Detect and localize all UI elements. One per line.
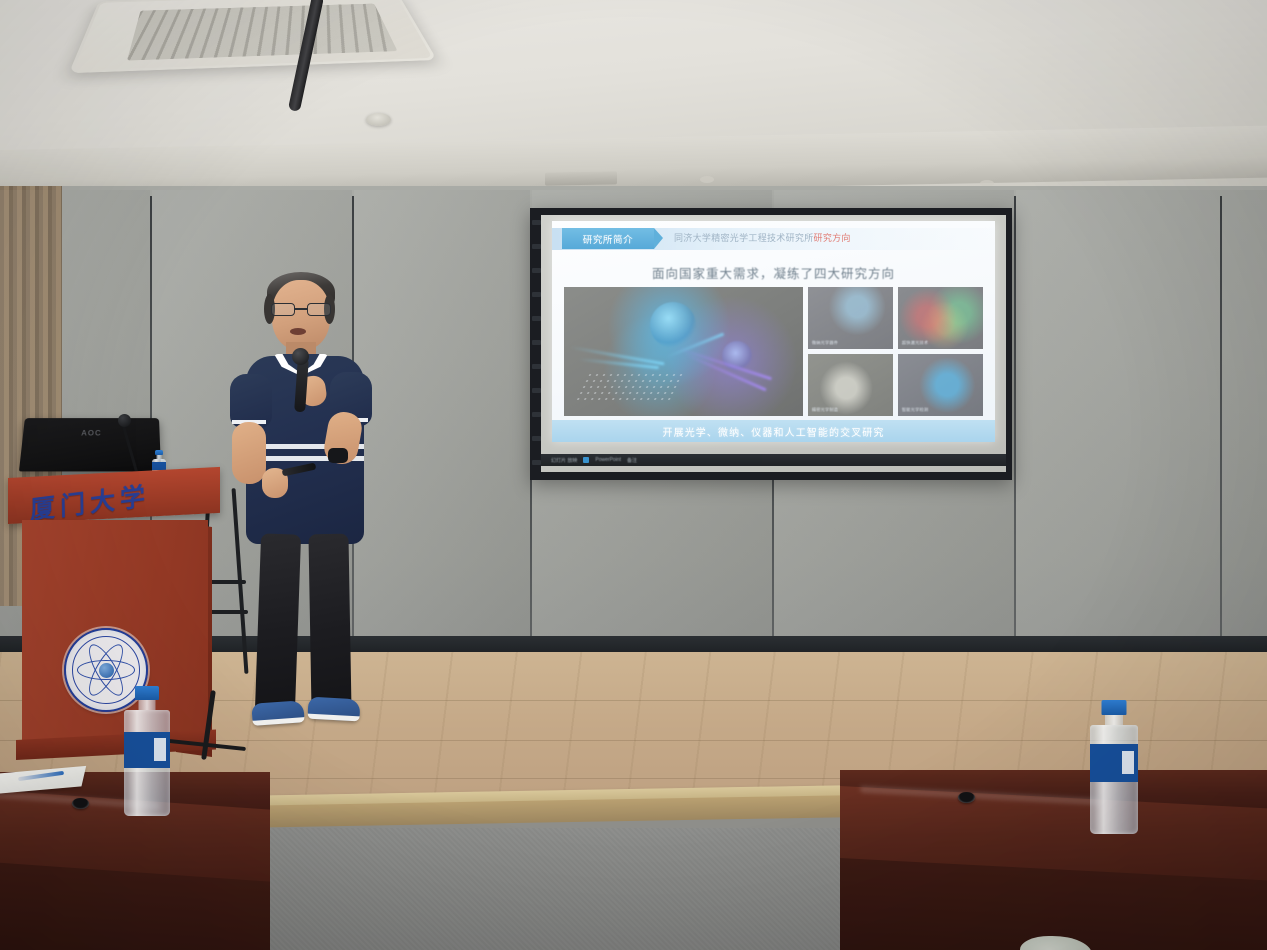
dot-array-graphic: [574, 372, 688, 400]
air-conditioner-icon: [69, 0, 437, 73]
status-bar-center-label: PowerPoint: [595, 457, 621, 463]
slide-subtitle-accent: 研究方向: [814, 233, 851, 243]
figure-white-sample: 精密光学制造: [808, 354, 893, 416]
water-bottle[interactable]: [124, 686, 170, 816]
bottle-label-patch: [1122, 751, 1134, 775]
monitor-brand-label: AOC: [81, 429, 102, 437]
atom-nucleus: [99, 663, 114, 678]
podium-monitor[interactable]: AOC: [19, 418, 161, 471]
microphone-head-icon: [292, 348, 309, 365]
presentation-slide: 研究所简介 同济大学精密光学工程技术研究所研究方向 面向国家重大需求，凝练了四大…: [552, 221, 995, 442]
figure-caption: 微纳光学器件: [812, 340, 838, 346]
microphone-icon: [118, 414, 131, 427]
slide-figure-grid: 微纳光学器件 超快激光技术 精密光学制造 智能光学检测: [564, 287, 983, 416]
podium-university-name: 厦门大学: [30, 470, 201, 527]
slide-subtitle: 同济大学精密光学工程技术研究所研究方向: [674, 231, 851, 244]
orb-graphic: [650, 302, 696, 348]
leg-right: [308, 534, 351, 713]
status-bar-right-label: 备注: [627, 457, 637, 464]
ac-grille: [127, 4, 397, 61]
screen-surface: 研究所简介 同济大学精密光学工程技术研究所研究方向 面向国家重大需求，凝练了四大…: [541, 215, 1006, 472]
figure-caption: 精密光学制造: [812, 407, 838, 413]
water-bottle[interactable]: [1090, 700, 1138, 834]
podium-top-surface: 厦门大学: [8, 467, 220, 524]
status-bar-indicator: [583, 457, 589, 463]
slide-subtitle-main: 同济大学精密光学工程技术研究所: [674, 233, 814, 243]
status-bar-left-label: 幻灯片 放映: [551, 457, 577, 464]
ceiling-vent: [545, 171, 617, 185]
smartwatch: [328, 448, 348, 463]
slide-section-tag: 研究所简介: [562, 228, 654, 249]
arm-left: [232, 422, 266, 484]
slide-footer-banner: 开展光学、微纳、仪器和人工智能的交叉研究: [552, 420, 995, 442]
speaker: [222, 272, 412, 752]
ceiling: [0, 0, 1267, 200]
presentation-status-bar[interactable]: 幻灯片 放映 PowerPoint 备注: [541, 454, 1006, 466]
mouth: [290, 328, 306, 335]
panel-seam: [1014, 196, 1016, 676]
podium: AOC 厦门大学: [8, 478, 220, 778]
panel-seam: [1220, 196, 1222, 676]
figure-nano-structure: 微纳光学器件: [808, 287, 893, 349]
lecture-hall-photo: 研究所简介 同济大学精密光学工程技术研究所研究方向 面向国家重大需求，凝练了四大…: [0, 0, 1267, 950]
bottle-label-patch: [154, 738, 166, 760]
figure-main-optics: [564, 287, 803, 416]
figure-spectrum-beam: 超快激光技术: [898, 287, 983, 349]
ceiling-fixture: [700, 176, 714, 183]
figure-blue-glow: 智能光学检测: [898, 354, 983, 416]
slide-headline: 面向国家重大需求，凝练了四大研究方向: [552, 263, 995, 282]
cable-grommet: [72, 798, 89, 809]
shoe-left: [251, 700, 304, 726]
cable-grommet: [958, 792, 975, 803]
podium-front: [22, 520, 208, 748]
projection-screen: 研究所简介 同济大学精密光学工程技术研究所研究方向 面向国家重大需求，凝练了四大…: [530, 208, 1012, 480]
leg-left: [255, 533, 301, 712]
shoe-right: [307, 697, 360, 722]
glasses-icon: [271, 303, 331, 316]
figure-caption: 超快激光技术: [902, 340, 928, 346]
screen-tension-tabs: [532, 220, 541, 470]
legs: [258, 534, 354, 714]
figure-small-column: 微纳光学器件 超快激光技术 精密光学制造 智能光学检测: [808, 287, 983, 416]
figure-caption: 智能光学检测: [902, 407, 928, 413]
smoke-detector-icon: [366, 113, 391, 126]
wall-panel: [1016, 190, 1267, 676]
front-right-table: [840, 770, 1267, 950]
